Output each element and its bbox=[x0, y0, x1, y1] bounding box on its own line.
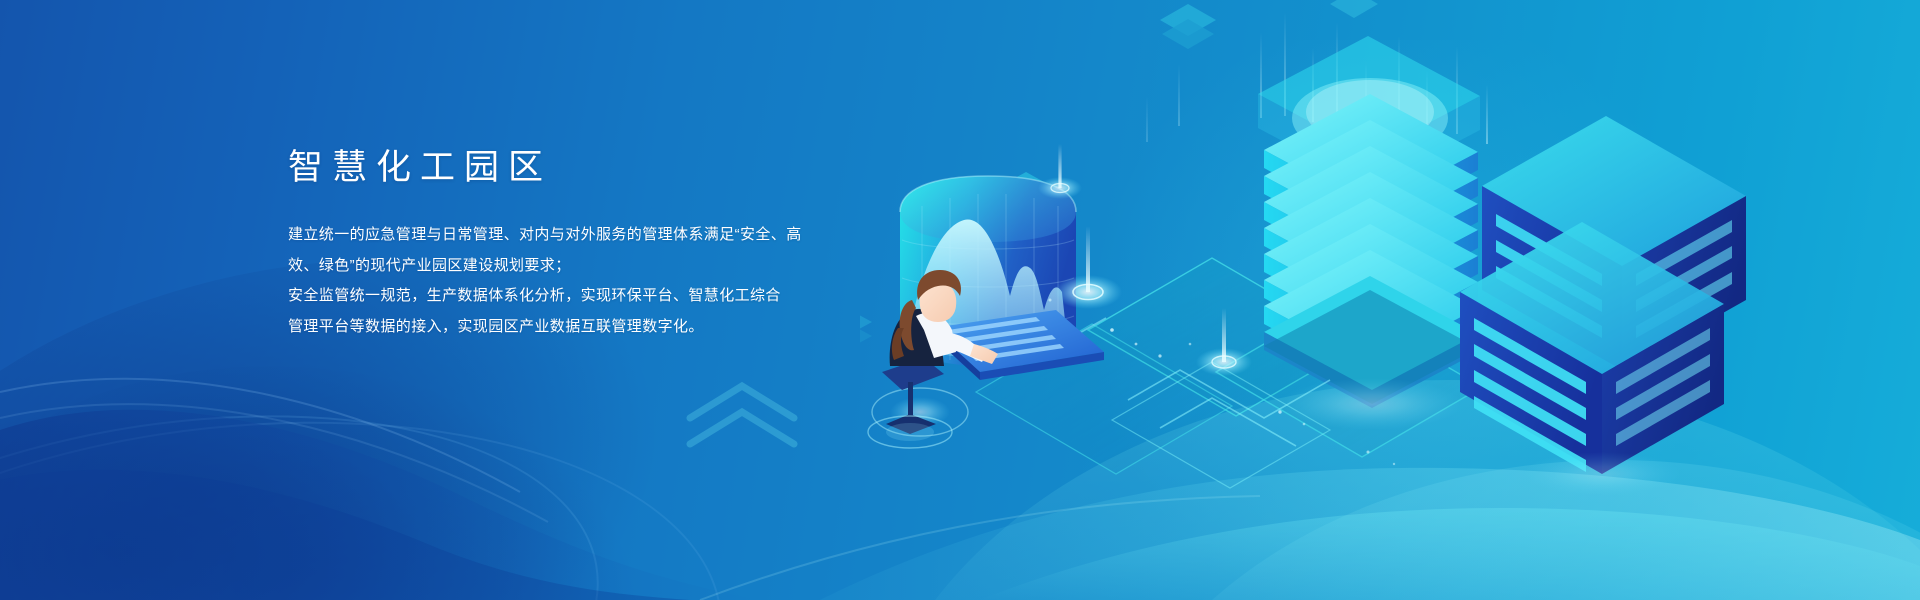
hero-banner: 智慧化工园区 建立统一的应急管理与日常管理、对内与对外服务的管理体系满足“安全、… bbox=[0, 0, 1920, 600]
description-line-4: 管理平台等数据的接入，实现园区产业数据互联管理数字化。 bbox=[288, 312, 908, 343]
description-line-1: 建立统一的应急管理与日常管理、对内与对外服务的管理体系满足“安全、高 bbox=[288, 220, 908, 251]
wave-dark-secondary bbox=[0, 319, 729, 600]
wave-dark-tertiary bbox=[0, 390, 470, 600]
server-tower-stack bbox=[1258, 36, 1480, 408]
description-line-2: 效、绿色”的现代产业园区建设规划要求； bbox=[288, 251, 908, 282]
illustration-svg bbox=[860, 0, 1920, 600]
page-title: 智慧化工园区 bbox=[288, 146, 908, 190]
banner-content: 智慧化工园区 建立统一的应急管理与日常管理、对内与对外服务的管理体系满足“安全、… bbox=[288, 146, 908, 342]
banner-description: 建立统一的应急管理与日常管理、对内与对外服务的管理体系满足“安全、高 效、绿色”… bbox=[288, 220, 908, 342]
hero-illustration bbox=[860, 0, 1920, 600]
description-line-3: 安全监管统一规范，生产数据体系化分析，实现环保平台、智慧化工综合 bbox=[288, 281, 908, 312]
wave-outline-one bbox=[0, 351, 635, 600]
wave-outline-two bbox=[0, 376, 746, 600]
